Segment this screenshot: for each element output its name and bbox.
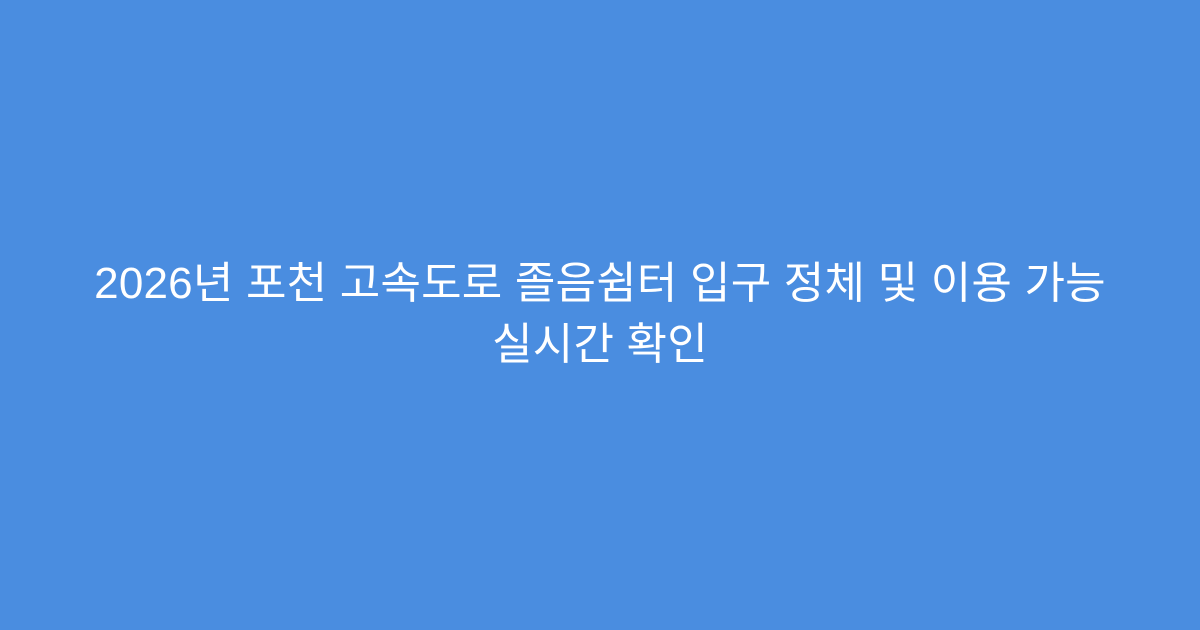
share-card: 2026년 포천 고속도로 졸음쉼터 입구 정체 및 이용 가능 실시간 확인 xyxy=(0,0,1200,630)
page-title: 2026년 포천 고속도로 졸음쉼터 입구 정체 및 이용 가능 실시간 확인 xyxy=(65,254,1135,375)
